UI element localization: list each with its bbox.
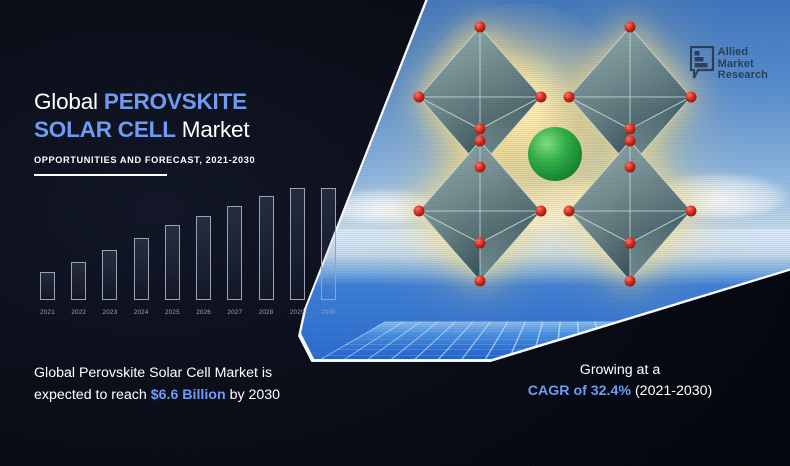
chart-bar-column: 2022: [64, 188, 93, 300]
title-segment-global: Global: [34, 89, 104, 114]
chart-bar: [165, 225, 180, 300]
market-growth-bar-chart: 2021202220232024202520262027202820292030: [33, 186, 343, 318]
chart-bar-label: 2023: [103, 309, 118, 316]
cagr-value-line: CAGR of 32.4% (2021-2030): [470, 381, 770, 402]
cagr-lead-text: Growing at a: [470, 360, 770, 381]
chart-bar-label: 2026: [196, 309, 211, 316]
chart-bar-column: 2029: [283, 188, 312, 300]
chart-bar-label: 2030: [321, 309, 336, 316]
page-subtitle: OPPORTUNITIES AND FORECAST, 2021-2030: [34, 155, 324, 165]
chart-bar-column: 2027: [220, 188, 249, 300]
statement-line-1: Global Perovskite Solar Cell Market is: [34, 365, 272, 381]
title-segment-perovskite: PEROVSKITE: [104, 89, 247, 114]
chart-bar-column: 2030: [314, 188, 343, 300]
logo-line-3: Research: [718, 70, 768, 82]
statement-line-2-suffix: by 2030: [226, 387, 280, 403]
chart-bar-column: 2025: [158, 188, 187, 300]
speech-bubble-bar-chart-icon: [689, 46, 715, 80]
left-content-column: Global PEROVSKITESOLAR CELL Market OPPOR…: [0, 0, 330, 466]
chart-bar: [196, 216, 211, 300]
cagr-statement: Growing at a CAGR of 32.4% (2021-2030): [470, 360, 770, 402]
market-value-highlight: $6.6 Billion: [151, 387, 226, 403]
center-atom: [528, 127, 582, 181]
title-segment-solar-cell: SOLAR CELL: [34, 117, 176, 142]
chart-bar-label: 2025: [165, 309, 180, 316]
chart-bar-column: 2028: [252, 188, 281, 300]
chart-bar-column: 2021: [33, 188, 62, 300]
page-title: Global PEROVSKITESOLAR CELL Market: [34, 88, 324, 144]
chart-bar-label: 2024: [134, 309, 149, 316]
allied-market-research-logo[interactable]: Allied Market Research: [689, 46, 768, 82]
chart-bar: [71, 262, 86, 300]
logo-wordmark: Allied Market Research: [718, 46, 768, 82]
title-segment-market: Market: [176, 117, 250, 142]
chart-bar-column: 2023: [95, 188, 124, 300]
chart-bar: [134, 238, 149, 300]
chart-bars-container: 2021202220232024202520262027202820292030: [33, 188, 343, 300]
chart-bar-label: 2022: [71, 309, 86, 316]
chart-bar-label: 2028: [259, 309, 274, 316]
statement-line-2-prefix: expected to reach: [34, 387, 151, 403]
title-divider: [34, 174, 167, 176]
market-value-statement: Global Perovskite Solar Cell Market isex…: [34, 362, 334, 406]
chart-bar-label: 2029: [290, 309, 305, 316]
logo-line-1: Allied: [718, 47, 768, 59]
perovskite-crystal-structure: [405, 9, 705, 299]
chart-bar-label: 2027: [227, 309, 242, 316]
chart-bar: [290, 188, 305, 300]
cagr-period: (2021-2030): [631, 383, 712, 399]
chart-bar: [321, 188, 336, 300]
chart-bar: [102, 250, 117, 300]
chart-bar-label: 2021: [40, 309, 55, 316]
chart-bar-column: 2024: [127, 188, 156, 300]
chart-bar: [259, 196, 274, 300]
cagr-highlight: CAGR of 32.4%: [528, 383, 631, 399]
title-block: Global PEROVSKITESOLAR CELL Market OPPOR…: [34, 88, 324, 176]
chart-bar: [40, 272, 55, 300]
chart-bar-column: 2026: [189, 188, 218, 300]
chart-bar: [227, 206, 242, 300]
solar-panel-field: [299, 322, 790, 359]
infographic-root: Allied Market Research Global PEROVSKITE…: [0, 0, 790, 466]
